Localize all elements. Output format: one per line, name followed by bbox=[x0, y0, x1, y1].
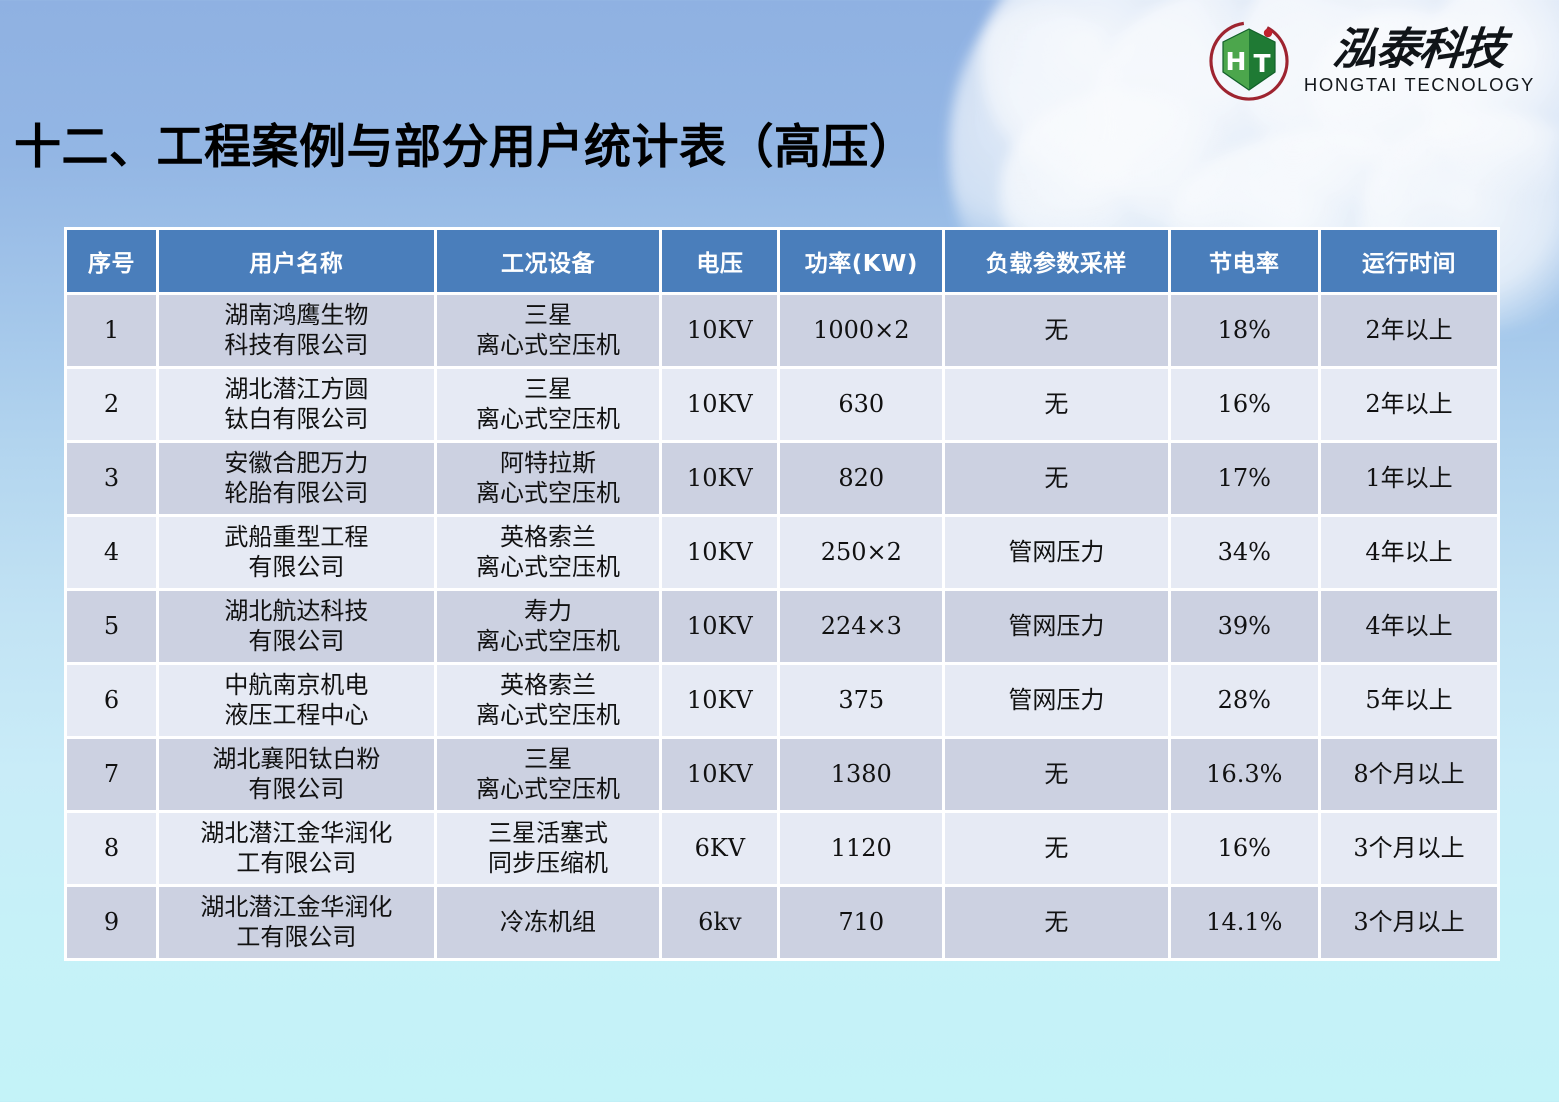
table-row: 4武船重型工程 有限公司英格索兰 离心式空压机10KV250×2管网压力34%4… bbox=[67, 517, 1497, 588]
cell-saving-rate: 17% bbox=[1171, 443, 1319, 514]
cell-power: 1380 bbox=[780, 739, 942, 810]
statistics-table: 序号 用户名称 工况设备 电压 功率(KW) 负载参数采样 节电率 运行时间 1… bbox=[64, 227, 1500, 961]
cell-power: 820 bbox=[780, 443, 942, 514]
cell-device: 三星 离心式空压机 bbox=[437, 739, 659, 810]
table-row: 7湖北襄阳钛白粉 有限公司三星 离心式空压机10KV1380无16.3%8个月以… bbox=[67, 739, 1497, 810]
cell-saving-rate: 39% bbox=[1171, 591, 1319, 662]
cell-index: 1 bbox=[67, 295, 156, 366]
cell-index: 2 bbox=[67, 369, 156, 440]
brand-logo: H T 泓泰科技 HONGTAI TECNOLOGY bbox=[1206, 18, 1535, 104]
table-row: 8湖北潜江金华润化 工有限公司三星活塞式 同步压缩机6KV1120无16%3个月… bbox=[67, 813, 1497, 884]
column-header-device: 工况设备 bbox=[437, 230, 659, 292]
cell-device: 冷冻机组 bbox=[437, 887, 659, 958]
logo-wordmark: 泓泰科技 HONGTAI TECNOLOGY bbox=[1304, 28, 1535, 95]
table-row: 9湖北潜江金华润化 工有限公司冷冻机组6kv710无14.1%3个月以上 bbox=[67, 887, 1497, 958]
cell-load-sampling: 无 bbox=[945, 887, 1167, 958]
cell-user-name: 湖北襄阳钛白粉 有限公司 bbox=[159, 739, 434, 810]
table-row: 2湖北潜江方圆 钛白有限公司三星 离心式空压机10KV630无16%2年以上 bbox=[67, 369, 1497, 440]
cell-device: 三星 离心式空压机 bbox=[437, 295, 659, 366]
cell-voltage: 6kv bbox=[662, 887, 777, 958]
column-header-load-sampling: 负载参数采样 bbox=[945, 230, 1167, 292]
cell-power: 1000×2 bbox=[780, 295, 942, 366]
cell-device: 阿特拉斯 离心式空压机 bbox=[437, 443, 659, 514]
svg-text:H: H bbox=[1225, 47, 1246, 76]
cell-load-sampling: 管网压力 bbox=[945, 517, 1167, 588]
cell-user-name: 中航南京机电 液压工程中心 bbox=[159, 665, 434, 736]
table-header-row: 序号 用户名称 工况设备 电压 功率(KW) 负载参数采样 节电率 运行时间 bbox=[67, 230, 1497, 292]
cell-saving-rate: 18% bbox=[1171, 295, 1319, 366]
cell-index: 6 bbox=[67, 665, 156, 736]
table-row: 5湖北航达科技 有限公司寿力 离心式空压机10KV224×3管网压力39%4年以… bbox=[67, 591, 1497, 662]
cell-voltage: 10KV bbox=[662, 295, 777, 366]
cell-device: 寿力 离心式空压机 bbox=[437, 591, 659, 662]
cell-saving-rate: 16.3% bbox=[1171, 739, 1319, 810]
cell-user-name: 湖南鸿鹰生物 科技有限公司 bbox=[159, 295, 434, 366]
cell-saving-rate: 16% bbox=[1171, 369, 1319, 440]
cell-power: 250×2 bbox=[780, 517, 942, 588]
cell-user-name: 湖北航达科技 有限公司 bbox=[159, 591, 434, 662]
table-row: 1湖南鸿鹰生物 科技有限公司三星 离心式空压机10KV1000×2无18%2年以… bbox=[67, 295, 1497, 366]
cell-index: 4 bbox=[67, 517, 156, 588]
cell-index: 8 bbox=[67, 813, 156, 884]
cell-power: 1120 bbox=[780, 813, 942, 884]
logo-name-en: HONGTAI TECNOLOGY bbox=[1304, 76, 1535, 95]
cell-power: 224×3 bbox=[780, 591, 942, 662]
cell-device: 英格索兰 离心式空压机 bbox=[437, 665, 659, 736]
column-header-saving-rate: 节电率 bbox=[1171, 230, 1319, 292]
column-header-runtime: 运行时间 bbox=[1321, 230, 1497, 292]
cell-power: 375 bbox=[780, 665, 942, 736]
cell-voltage: 10KV bbox=[662, 443, 777, 514]
table-header: 序号 用户名称 工况设备 电压 功率(KW) 负载参数采样 节电率 运行时间 bbox=[67, 230, 1497, 292]
cell-runtime: 5年以上 bbox=[1321, 665, 1497, 736]
logo-name-cn: 泓泰科技 bbox=[1331, 28, 1508, 72]
cell-load-sampling: 无 bbox=[945, 443, 1167, 514]
svg-text:T: T bbox=[1253, 49, 1270, 78]
cell-runtime: 2年以上 bbox=[1321, 295, 1497, 366]
cell-load-sampling: 管网压力 bbox=[945, 591, 1167, 662]
hexagon-ht-shield-icon: H T bbox=[1206, 18, 1292, 104]
cell-user-name: 武船重型工程 有限公司 bbox=[159, 517, 434, 588]
column-header-voltage: 电压 bbox=[662, 230, 777, 292]
cell-voltage: 10KV bbox=[662, 665, 777, 736]
cell-load-sampling: 管网压力 bbox=[945, 665, 1167, 736]
cell-voltage: 10KV bbox=[662, 369, 777, 440]
cell-index: 9 bbox=[67, 887, 156, 958]
cell-device: 三星 离心式空压机 bbox=[437, 369, 659, 440]
cell-load-sampling: 无 bbox=[945, 739, 1167, 810]
column-header-index: 序号 bbox=[67, 230, 156, 292]
table-body: 1湖南鸿鹰生物 科技有限公司三星 离心式空压机10KV1000×2无18%2年以… bbox=[67, 295, 1497, 958]
cell-index: 7 bbox=[67, 739, 156, 810]
cell-runtime: 3个月以上 bbox=[1321, 813, 1497, 884]
cell-voltage: 6KV bbox=[662, 813, 777, 884]
cell-runtime: 1年以上 bbox=[1321, 443, 1497, 514]
cell-runtime: 4年以上 bbox=[1321, 591, 1497, 662]
column-header-power: 功率(KW) bbox=[780, 230, 942, 292]
cell-load-sampling: 无 bbox=[945, 369, 1167, 440]
cell-device: 英格索兰 离心式空压机 bbox=[437, 517, 659, 588]
cell-user-name: 湖北潜江方圆 钛白有限公司 bbox=[159, 369, 434, 440]
cell-saving-rate: 34% bbox=[1171, 517, 1319, 588]
cell-load-sampling: 无 bbox=[945, 295, 1167, 366]
cell-runtime: 8个月以上 bbox=[1321, 739, 1497, 810]
table-row: 6中航南京机电 液压工程中心英格索兰 离心式空压机10KV375管网压力28%5… bbox=[67, 665, 1497, 736]
column-header-user-name: 用户名称 bbox=[159, 230, 434, 292]
cell-runtime: 2年以上 bbox=[1321, 369, 1497, 440]
cell-power: 710 bbox=[780, 887, 942, 958]
cell-voltage: 10KV bbox=[662, 591, 777, 662]
cell-load-sampling: 无 bbox=[945, 813, 1167, 884]
cell-power: 630 bbox=[780, 369, 942, 440]
cell-user-name: 湖北潜江金华润化 工有限公司 bbox=[159, 813, 434, 884]
table-row: 3安徽合肥万力 轮胎有限公司阿特拉斯 离心式空压机10KV820无17%1年以上 bbox=[67, 443, 1497, 514]
statistics-table-container: 序号 用户名称 工况设备 电压 功率(KW) 负载参数采样 节电率 运行时间 1… bbox=[64, 227, 1500, 961]
cell-user-name: 安徽合肥万力 轮胎有限公司 bbox=[159, 443, 434, 514]
cell-runtime: 4年以上 bbox=[1321, 517, 1497, 588]
page-title: 十二、工程案例与部分用户统计表（高压） bbox=[14, 108, 917, 177]
cell-device: 三星活塞式 同步压缩机 bbox=[437, 813, 659, 884]
cell-voltage: 10KV bbox=[662, 517, 777, 588]
cell-index: 3 bbox=[67, 443, 156, 514]
cell-saving-rate: 28% bbox=[1171, 665, 1319, 736]
cell-saving-rate: 14.1% bbox=[1171, 887, 1319, 958]
cell-user-name: 湖北潜江金华润化 工有限公司 bbox=[159, 887, 434, 958]
cell-runtime: 3个月以上 bbox=[1321, 887, 1497, 958]
cell-index: 5 bbox=[67, 591, 156, 662]
cell-saving-rate: 16% bbox=[1171, 813, 1319, 884]
cell-voltage: 10KV bbox=[662, 739, 777, 810]
